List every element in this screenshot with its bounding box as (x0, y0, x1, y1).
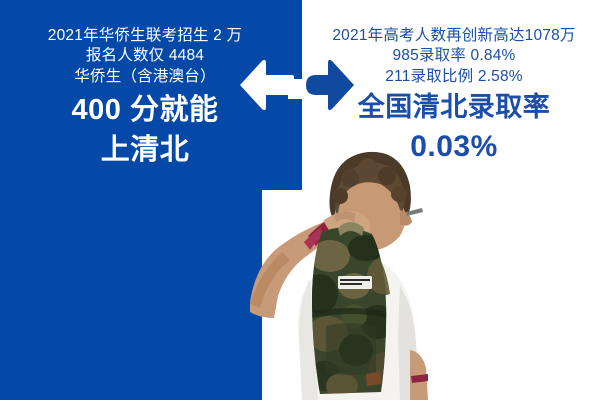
right-line-1: 2021年高考人数再创新高达1078万 (308, 26, 600, 46)
right-headline-1: 全国清北录取率 (308, 90, 600, 126)
left-headline-1: 400 分就能 (0, 91, 290, 129)
left-line-2: 报名人数仅 4484 (0, 46, 290, 66)
right-headline-2: 0.03% (308, 127, 600, 167)
student-photo (250, 136, 432, 400)
left-line-3: 华侨生（含港澳台） (0, 67, 290, 87)
left-line-1: 2021年华侨生联考招生 2 万 (0, 26, 290, 46)
right-text-block: 2021年高考人数再创新高达1078万 985录取率 0.84% 211录取比例… (308, 26, 600, 167)
right-line-3: 211录取比例 2.58% (308, 67, 600, 87)
right-line-2: 985录取率 0.84% (308, 46, 600, 66)
poster-root: 2021年华侨生联考招生 2 万 报名人数仅 4484 华侨生（含港澳台） 40… (0, 0, 600, 400)
photo-right-hand (410, 350, 428, 400)
left-headline-2: 上清北 (0, 131, 290, 169)
left-text-block: 2021年华侨生联考招生 2 万 报名人数仅 4484 华侨生（含港澳台） 40… (0, 26, 290, 169)
